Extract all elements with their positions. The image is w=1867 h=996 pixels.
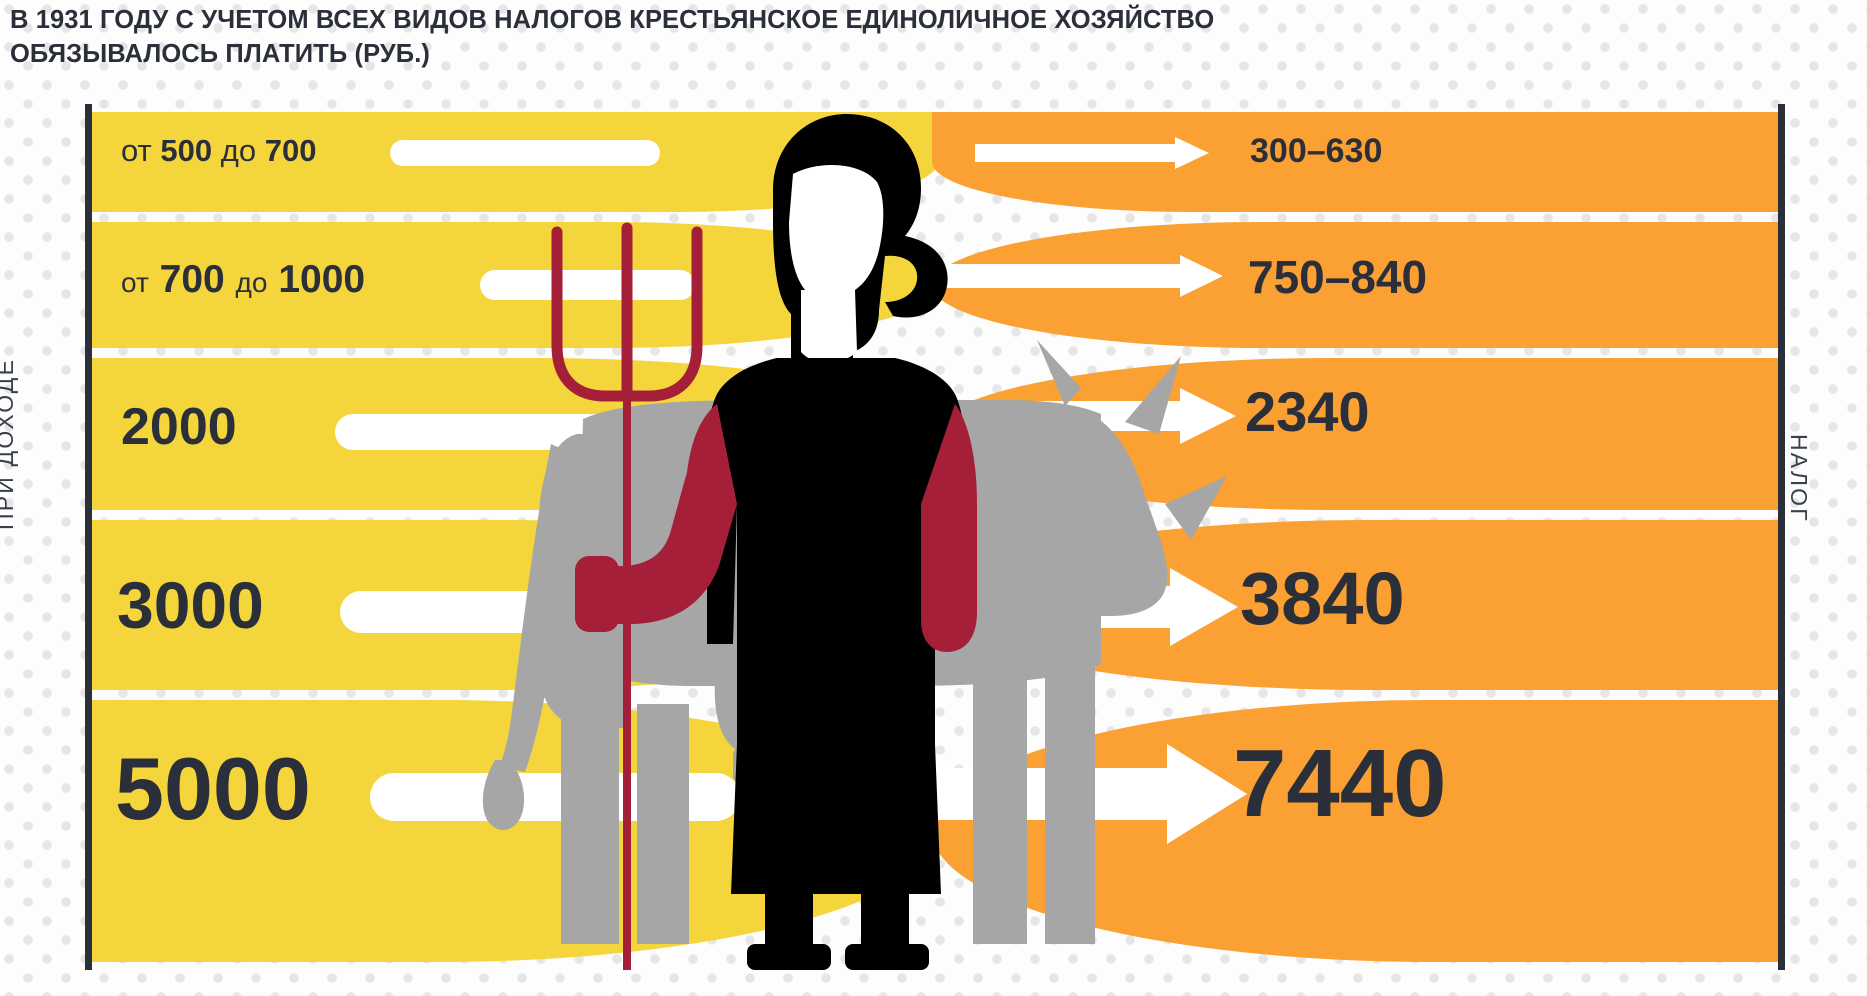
tax-value-1: 300–630 — [1250, 134, 1382, 168]
page-title-line-1: В 1931 ГОДУ С УЧЕТОМ ВСЕХ ВИДОВ НАЛОГОВ … — [10, 4, 1860, 38]
frame-rail-right — [1778, 104, 1785, 970]
axis-label-income: ПРИ ДОХОДЕ — [0, 358, 19, 530]
arrow-shaft-2 — [945, 264, 1185, 288]
income-label-4: 3000 — [117, 572, 264, 638]
arrow-shaft-5 — [845, 768, 1175, 820]
income-prefix-1a: от — [121, 133, 152, 168]
arrow-shaft-4 — [885, 586, 1177, 628]
income-label-2: от 700 до 1000 — [121, 260, 365, 299]
tax-value-5: 7440 — [1233, 736, 1447, 832]
chart-frame: от 500 до 700 300–630 от 700 до 1000 750… — [85, 104, 1785, 970]
arrow-right-icon-4 — [885, 568, 1240, 646]
income-prefix-2b: до — [236, 267, 268, 298]
income-number-2a: 700 — [160, 258, 225, 301]
frame-rail-left — [85, 104, 92, 970]
arrow-shaft-1 — [975, 144, 1180, 162]
tax-value-2: 750–840 — [1248, 254, 1427, 300]
arrow-head-1 — [1175, 137, 1209, 169]
income-rule-3 — [335, 414, 740, 450]
arrow-right-icon-2 — [945, 255, 1235, 297]
page-title: В 1931 ГОДУ С УЧЕТОМ ВСЕХ ВИДОВ НАЛОГОВ … — [10, 4, 1860, 72]
tax-value-4: 3840 — [1240, 562, 1405, 636]
income-rule-4 — [340, 591, 730, 633]
page-title-line-2: ОБЯЗЫВАЛОСЬ ПЛАТИТЬ (РУБ.) — [10, 38, 1860, 72]
income-rule-2 — [480, 270, 695, 300]
income-number-1b: 700 — [265, 133, 317, 168]
income-prefix-1b: до — [221, 133, 256, 168]
income-rule-1 — [390, 140, 660, 166]
axis-label-tax: НАЛОГ — [1785, 434, 1812, 523]
arrow-shaft-3 — [915, 401, 1187, 431]
income-label-1: от 500 до 700 — [121, 135, 316, 166]
tax-value-3: 2340 — [1245, 384, 1370, 440]
band-row-1 — [92, 112, 1778, 212]
arrow-right-icon-1 — [975, 137, 1230, 169]
arrow-head-4 — [1170, 568, 1238, 646]
income-label-5: 5000 — [115, 745, 311, 833]
income-number-2b: 1000 — [278, 258, 365, 301]
arrow-head-3 — [1180, 388, 1236, 444]
income-prefix-2a: от — [121, 267, 149, 298]
income-label-3: 2000 — [121, 401, 237, 453]
arrow-right-icon-5 — [845, 744, 1245, 844]
income-number-1a: 500 — [160, 133, 212, 168]
income-rule-5 — [370, 773, 740, 821]
arrow-right-icon-3 — [915, 388, 1240, 444]
arrow-head-2 — [1180, 255, 1223, 297]
